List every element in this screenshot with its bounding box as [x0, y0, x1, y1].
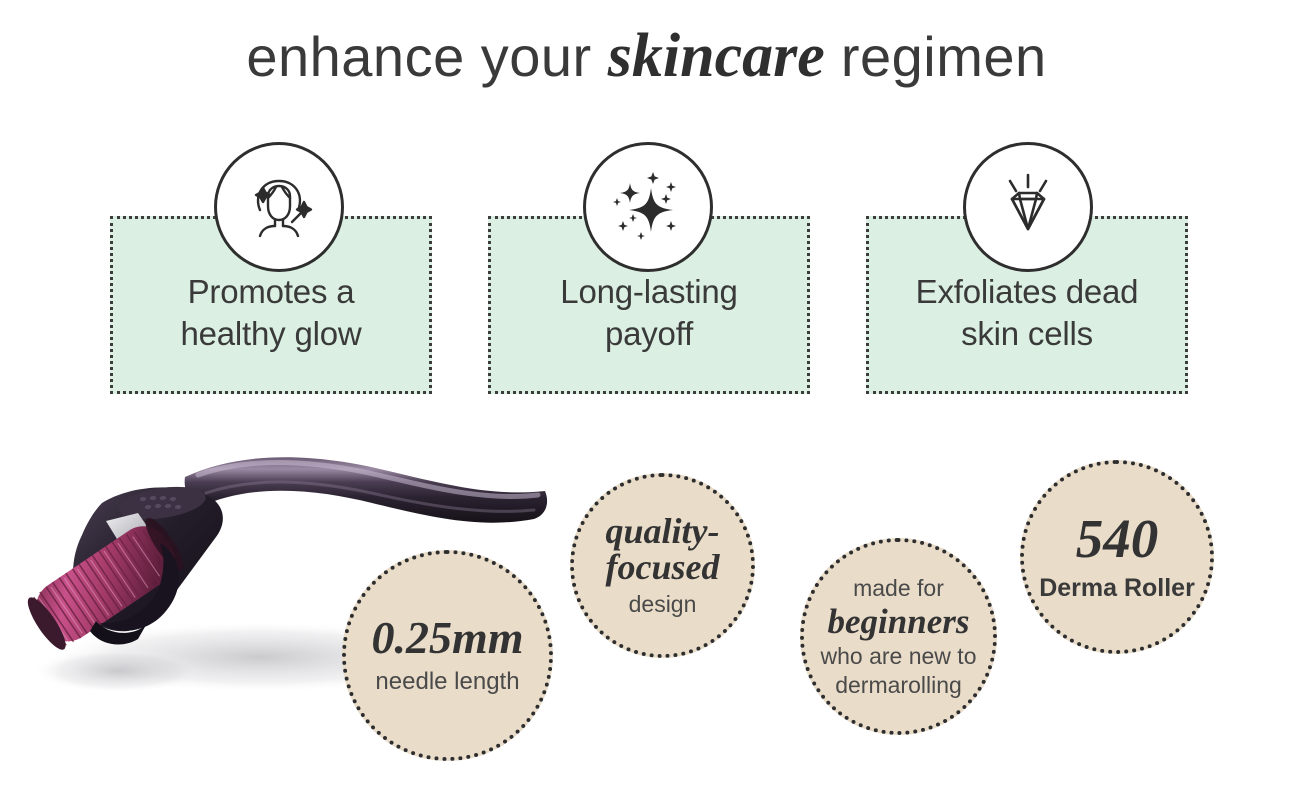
- beginners-value: beginners: [828, 604, 970, 639]
- woman-face-sparkle-icon: [214, 142, 344, 272]
- feature-card-3-text: Exfoliates dead skin cells: [869, 271, 1185, 355]
- feature-card-2-text: Long-lasting payoff: [491, 271, 807, 355]
- feature-card-2-line-2: payoff: [491, 313, 807, 355]
- beginners-badge: made for beginners who are new to dermar…: [800, 538, 997, 735]
- feature-card-1-line-2: healthy glow: [113, 313, 429, 355]
- beginners-label-line-2: dermarolling: [835, 671, 962, 699]
- page-title: enhance your skincare regimen: [0, 22, 1293, 90]
- beginners-pre-label: made for: [853, 574, 944, 602]
- diamond-icon: [963, 142, 1093, 272]
- infographic-canvas: enhance your skincare regimen Promotes a…: [0, 0, 1293, 800]
- headline-accent: skincare: [608, 22, 825, 90]
- headline-prefix: enhance your: [246, 25, 607, 88]
- feature-card-1-line-1: Promotes a: [113, 271, 429, 313]
- feature-card-1-text: Promotes a healthy glow: [113, 271, 429, 355]
- feature-card-3-line-1: Exfoliates dead: [869, 271, 1185, 313]
- sparkles-icon: [583, 142, 713, 272]
- quality-focused-badge: quality- focused design: [570, 473, 755, 658]
- quality-focused-line-1: quality-: [606, 513, 720, 549]
- derma-roller-count-value: 540: [1076, 511, 1159, 566]
- beginners-label-line-1: who are new to: [821, 642, 977, 670]
- derma-roller-count-label: Derma Roller: [1039, 574, 1195, 603]
- derma-roller-count-badge: 540 Derma Roller: [1020, 460, 1214, 654]
- feature-card-2-line-1: Long-lasting: [491, 271, 807, 313]
- quality-focused-line-2: focused: [606, 549, 720, 585]
- quality-focused-label: design: [629, 590, 697, 618]
- needle-length-badge: 0.25mm needle length: [342, 550, 553, 761]
- feature-card-3-line-2: skin cells: [869, 313, 1185, 355]
- needle-length-label: needle length: [375, 667, 519, 696]
- headline-suffix: regimen: [825, 25, 1047, 88]
- needle-length-value: 0.25mm: [371, 615, 523, 661]
